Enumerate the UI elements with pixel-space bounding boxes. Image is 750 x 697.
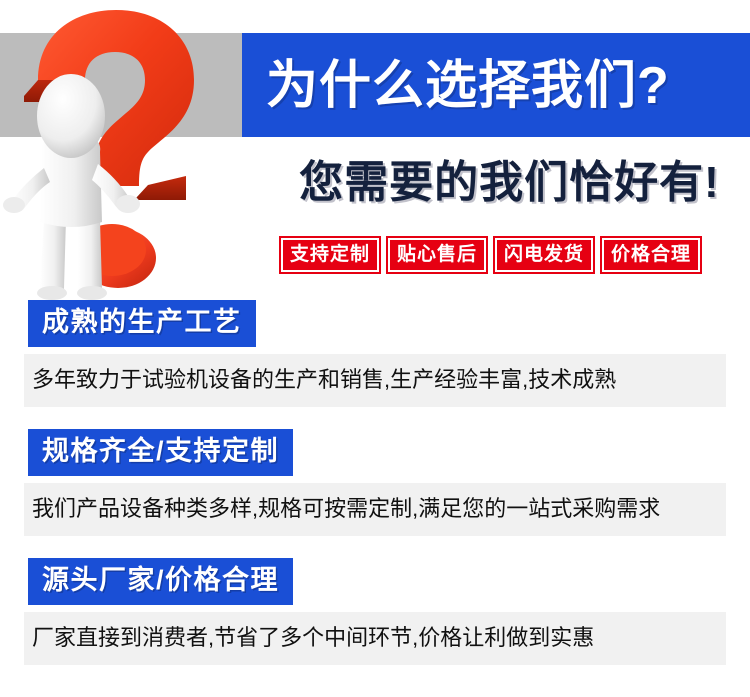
feature-title: 规格齐全/支持定制: [28, 429, 293, 476]
feature-description: 我们产品设备种类多样,规格可按需定制,满足您的一站式采购需求: [24, 483, 726, 536]
hero-headline: 为什么选择我们?: [266, 45, 736, 127]
feature-title: 源头厂家/价格合理: [28, 558, 293, 605]
promo-banner: 为什么选择我们? 您需要的我们恰好有! 支持定制 贴心售后 闪电发货 价格合理 …: [0, 0, 750, 697]
tag-badge: 贴心售后: [388, 238, 486, 272]
tag-badge: 价格合理: [602, 238, 700, 272]
tag-badge: 闪电发货: [495, 238, 593, 272]
feature-title: 成熟的生产工艺: [28, 300, 256, 347]
hero-subheadline: 您需要的我们恰好有!: [282, 152, 737, 214]
feature-item: 规格齐全/支持定制 我们产品设备种类多样,规格可按需定制,满足您的一站式采购需求: [0, 429, 750, 536]
feature-description: 多年致力于试验机设备的生产和销售,生产经验丰富,技术成熟: [24, 354, 726, 407]
feature-description: 厂家直接到消费者,节省了多个中间环节,价格让利做到实惠: [24, 612, 726, 665]
feature-item: 源头厂家/价格合理 厂家直接到消费者,节省了多个中间环节,价格让利做到实惠: [0, 558, 750, 665]
hero-section: 为什么选择我们? 您需要的我们恰好有! 支持定制 贴心售后 闪电发货 价格合理: [0, 0, 750, 300]
feature-tag-row: 支持定制 贴心售后 闪电发货 价格合理: [281, 238, 741, 272]
feature-item: 成熟的生产工艺 多年致力于试验机设备的生产和销售,生产经验丰富,技术成熟: [0, 300, 750, 407]
mascot-ball: [78, 224, 156, 288]
feature-list: 成熟的生产工艺 多年致力于试验机设备的生产和销售,生产经验丰富,技术成熟 规格齐…: [0, 300, 750, 687]
tag-badge: 支持定制: [281, 238, 379, 272]
